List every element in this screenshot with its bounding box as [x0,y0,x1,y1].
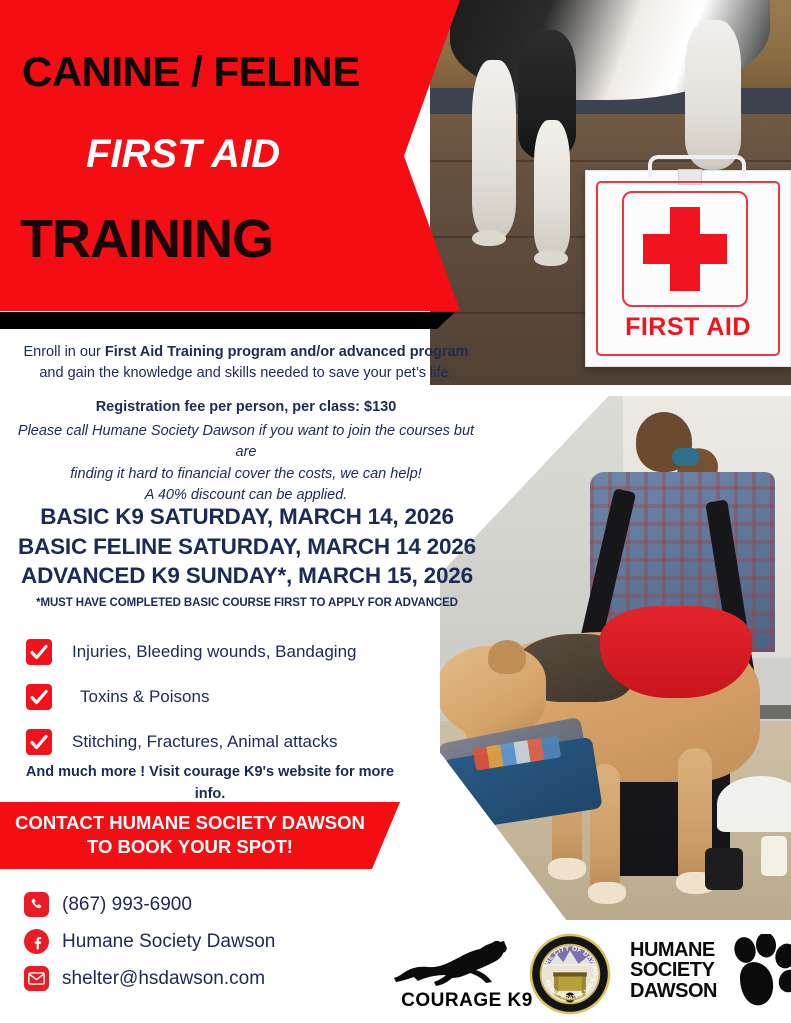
kit-label: FIRST AID [586,313,790,342]
dog-ear [488,640,526,674]
hair-scrunchie [672,448,700,466]
dog-paw [588,882,626,904]
header-photo-dog-first-aid-kit: FIRST AID [430,0,791,385]
fee-note-line2: finding it hard to financial cover the c… [6,464,486,485]
course-date-basic-feline: BASIC FELINE SATURDAY, MARCH 14 2026 [8,532,486,562]
dog-leg [534,120,570,260]
intro-paragraph: Enroll in our First Aid Training program… [10,342,482,384]
dog-rear-leg [685,20,741,170]
black-accent-band [0,312,470,329]
jumping-dog-icon [388,938,530,994]
humane-line3: DAWSON [630,981,717,1001]
dog-paw [472,230,506,246]
contact-row-email[interactable]: shelter@hsdawson.com [24,960,275,997]
white-stool [717,776,791,832]
equipment-item [705,848,743,890]
list-item: Injuries, Bleeding wounds, Bandaging [26,630,446,674]
courage-k9-logo: COURAGE K9 [388,938,530,1016]
more-info-line: And much more ! Visit courage K9's websi… [10,762,410,806]
course-date-advanced-k9: ADVANCED K9 SUNDAY*, MARCH 15, 2026 [8,561,486,591]
red-cross-icon-bar [643,234,727,264]
page-title-line3: TRAINING [20,208,273,270]
list-item: Toxins & Poisons [26,675,446,719]
list-item-label: Toxins & Poisons [80,687,209,707]
phone-number: (867) 993-6900 [62,894,192,916]
footer-logos: COURAGE K9 [380,928,791,1020]
checkmark-icon [26,639,52,665]
contact-list: (867) 993-6900 Humane Society Dawson she… [24,886,275,997]
humane-line2: SOCIETY [630,960,717,980]
dog-front-leg [472,60,516,240]
checkmark-icon [26,729,52,755]
humane-society-dawson-wordmark: HUMANE SOCIETY DAWSON [630,940,717,1001]
contact-row-phone[interactable]: (867) 993-6900 [24,886,275,923]
dog-paw [534,250,568,266]
registration-fee-note: Please call Humane Society Dawson if you… [6,421,486,506]
intro-prefix: Enroll in our [23,344,104,360]
flyer-page: FIRST AID CANINE / FELINE FIRST AID TRAI… [0,0,791,1023]
dog-paw [548,858,586,880]
list-item-label: Stitching, Fractures, Animal attacks [72,732,338,752]
topics-checklist: Injuries, Bleeding wounds, Bandaging Tox… [26,630,446,765]
course-date-footnote: *MUST HAVE COMPLETED BASIC COURSE FIRST … [8,597,486,609]
contact-banner: CONTACT HUMANE SOCIETY DAWSON TO BOOK YO… [0,802,420,869]
contact-row-facebook[interactable]: Humane Society Dawson [24,923,275,960]
contact-banner-line1: CONTACT HUMANE SOCIETY DAWSON [0,811,380,835]
intro-suffix: and gain the knowledge and skills needed… [39,365,452,381]
phone-icon [24,892,49,917]
fee-note-line1: Please call Humane Society Dawson if you… [6,421,486,464]
bandage-roll [761,836,787,876]
side-photo-dog-sling-harness [440,396,791,920]
registration-fee-headline: Registration fee per person, per class: … [10,399,482,415]
courage-k9-wordmark: COURAGE K9 [396,990,538,1012]
contact-banner-inner: CONTACT HUMANE SOCIETY DAWSON TO BOOK YO… [0,811,380,858]
facebook-icon [24,929,49,954]
email-icon [24,966,49,991]
checkmark-icon [26,684,52,710]
red-sling-harness [600,606,752,698]
list-item-label: Injuries, Bleeding wounds, Bandaging [72,642,356,662]
email-address: shelter@hsdawson.com [62,968,265,990]
city-of-dawson-seal: THE CITY OF DAWSON Y.T. INCORPORATED JAN… [528,932,612,1016]
facebook-page-name: Humane Society Dawson [62,931,275,953]
red-cross-frame [622,191,748,307]
paw-print-icon [728,934,791,1014]
first-aid-kit: FIRST AID [585,170,791,367]
intro-bold: First Aid Training program and/or advanc… [105,344,469,360]
course-dates: BASIC K9 SATURDAY, MARCH 14, 2026 BASIC … [8,502,486,609]
page-title-line1: CANINE / FELINE [22,48,360,96]
list-item: Stitching, Fractures, Animal attacks [26,720,446,764]
course-date-basic-k9: BASIC K9 SATURDAY, MARCH 14, 2026 [8,502,486,532]
page-title-line2: FIRST AID [86,132,280,177]
humane-line1: HUMANE [630,940,717,960]
contact-banner-line2: TO BOOK YOUR SPOT! [0,835,380,859]
